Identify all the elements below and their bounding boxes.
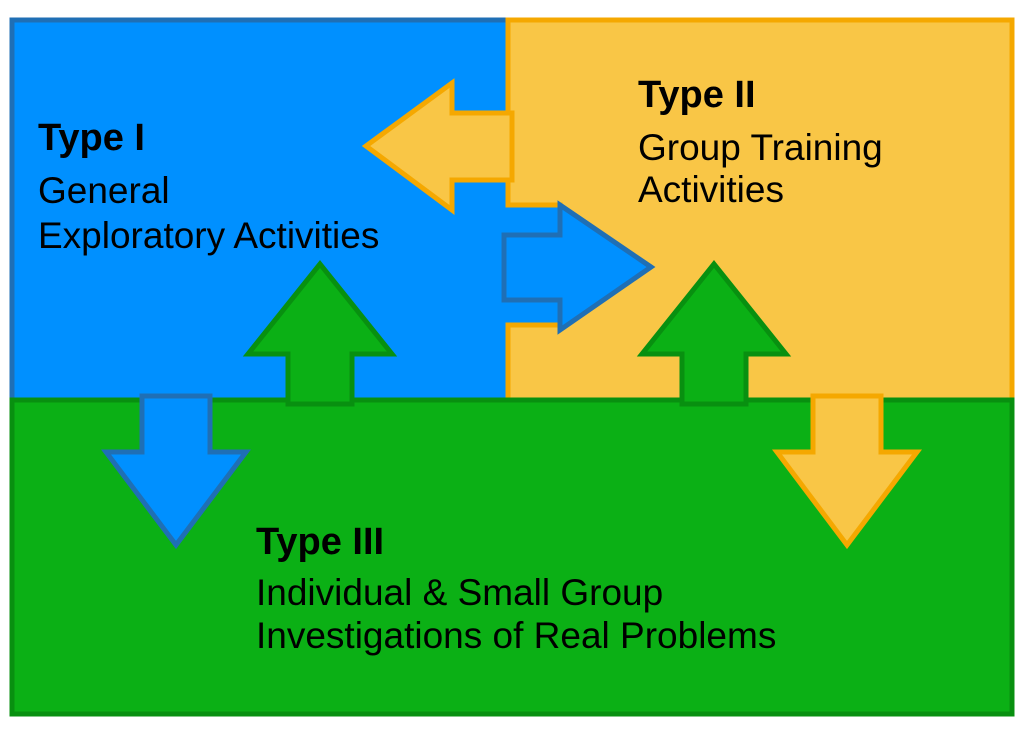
panel-type-1-heading: Type I — [38, 117, 145, 159]
panel-type-2-heading: Type II — [638, 74, 756, 116]
panel-type-3-line-2: Investigations of Real Problems — [256, 615, 776, 656]
panel-type-1-line-2: Exploratory Activities — [38, 215, 379, 256]
enrichment-triad-diagram: Type I General Exploratory Activities Ty… — [0, 0, 1024, 734]
panel-type-1-line-1: General — [38, 170, 170, 211]
diagram-canvas: Type I General Exploratory Activities Ty… — [0, 0, 1024, 734]
panel-type-3-heading: Type III — [256, 521, 384, 563]
panel-type-2-line-1: Group Training — [638, 127, 883, 168]
panel-type-3-line-1: Individual & Small Group — [256, 572, 663, 613]
panel-type-2-line-2: Activities — [638, 169, 784, 210]
